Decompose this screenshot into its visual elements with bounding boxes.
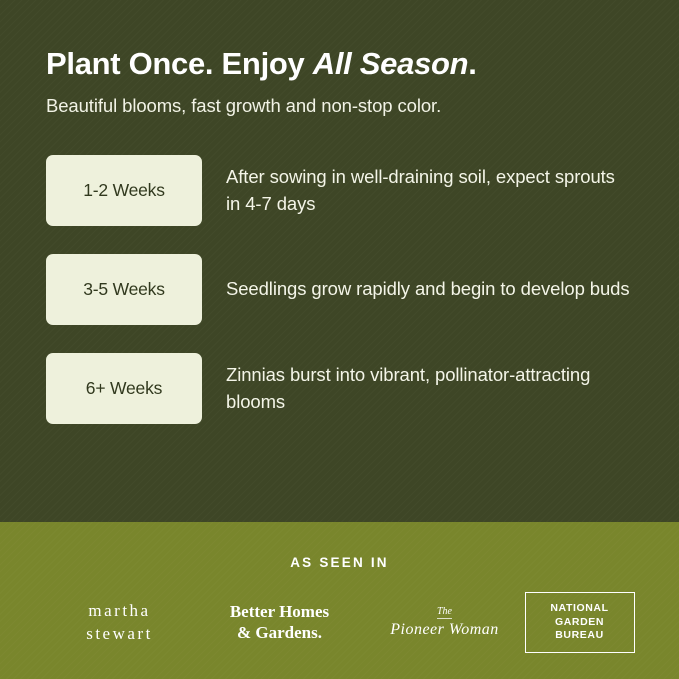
timeline-text-3: Zinnias burst into vibrant, pollinator-a…	[226, 362, 633, 416]
logo-the-pioneer-woman: The Pioneer Woman	[365, 606, 525, 639]
press-logo-row: martha stewart Better Homes & Gardens. T…	[0, 592, 679, 653]
timeline-chip-1: 1-2 Weeks	[46, 155, 202, 226]
logo-pioneer-line2: Pioneer Woman	[390, 621, 499, 639]
logo-bhg-line2: & Gardens.	[237, 623, 322, 643]
as-seen-in-label: AS SEEN IN	[290, 555, 389, 570]
headline-part-2: .	[468, 46, 476, 81]
logo-national-garden-bureau: NATIONAL GARDEN BUREAU	[525, 592, 635, 653]
main-content: Plant Once. Enjoy All Season. Beautiful …	[0, 0, 679, 522]
timeline-text-2: Seedlings grow rapidly and begin to deve…	[226, 276, 630, 303]
page-title: Plant Once. Enjoy All Season.	[46, 45, 633, 82]
logo-martha-line1: martha	[88, 601, 150, 621]
headline-italic: All Season	[313, 46, 469, 81]
logo-pioneer-line1: The	[437, 606, 452, 619]
page-subtitle: Beautiful blooms, fast growth and non-st…	[46, 95, 633, 117]
list-item: 3-5 Weeks Seedlings grow rapidly and beg…	[46, 254, 633, 325]
logo-ngb-line1: NATIONAL	[550, 602, 608, 616]
timeline-chip-3: 6+ Weeks	[46, 353, 202, 424]
logo-ngb-line2: GARDEN	[555, 616, 604, 630]
promo-graphic: Plant Once. Enjoy All Season. Beautiful …	[0, 0, 679, 679]
list-item: 6+ Weeks Zinnias burst into vibrant, pol…	[46, 353, 633, 424]
timeline-text-1: After sowing in well-draining soil, expe…	[226, 164, 633, 218]
headline-part-1: Plant Once. Enjoy	[46, 46, 313, 81]
logo-bhg-line1: Better Homes	[230, 602, 329, 622]
logo-better-homes-and-gardens: Better Homes & Gardens.	[195, 602, 365, 643]
logo-martha-line2: stewart	[86, 624, 153, 644]
timeline-list: 1-2 Weeks After sowing in well-draining …	[46, 155, 633, 424]
press-band: AS SEEN IN martha stewart Better Homes &…	[0, 522, 679, 679]
list-item: 1-2 Weeks After sowing in well-draining …	[46, 155, 633, 226]
logo-martha-stewart: martha stewart	[45, 601, 195, 644]
logo-ngb-line3: BUREAU	[555, 629, 604, 643]
timeline-chip-2: 3-5 Weeks	[46, 254, 202, 325]
